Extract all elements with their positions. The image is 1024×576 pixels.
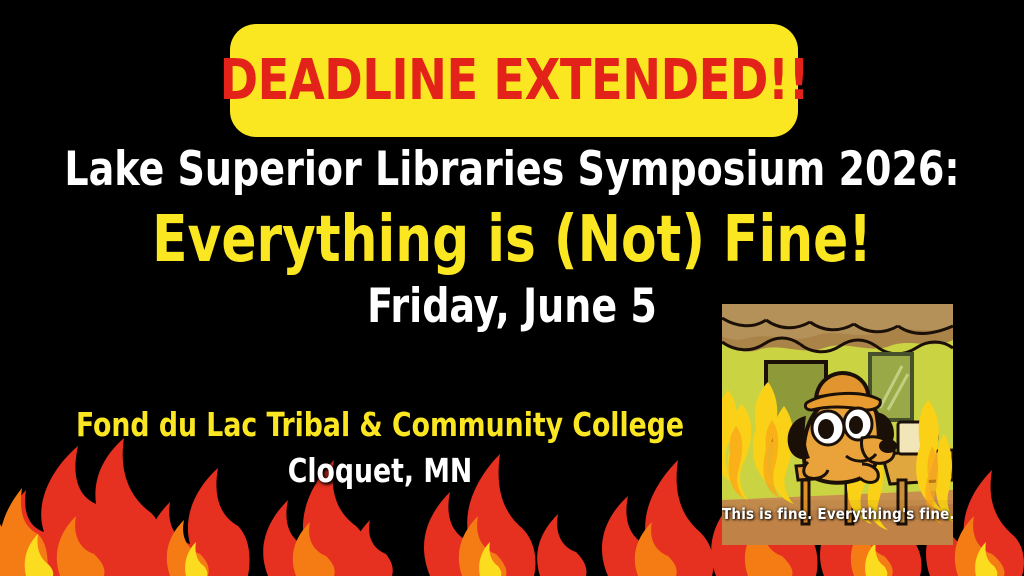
venue-name: Fond du Lac Tribal & Community College [38, 408, 722, 442]
meme-caption: This is fine. Everything's fine. [722, 505, 953, 523]
this-is-fine-meme-image: This is fine. Everything's fine. [722, 304, 953, 545]
deadline-extended-banner: DEADLINE EXTENDED!! [230, 24, 798, 137]
symposium-theme: Everything is (Not) Fine! [51, 208, 973, 273]
venue-block: Fond du Lac Tribal & Community College C… [0, 408, 760, 487]
deadline-banner-label: DEADLINE EXTENDED!! [219, 53, 809, 109]
venue-city: Cloquet, MN [38, 454, 722, 488]
symposium-title: Lake Superior Libraries Symposium 2026: [51, 146, 973, 194]
symposium-promo-poster: DEADLINE EXTENDED!! Lake Superior Librar… [0, 0, 1024, 576]
